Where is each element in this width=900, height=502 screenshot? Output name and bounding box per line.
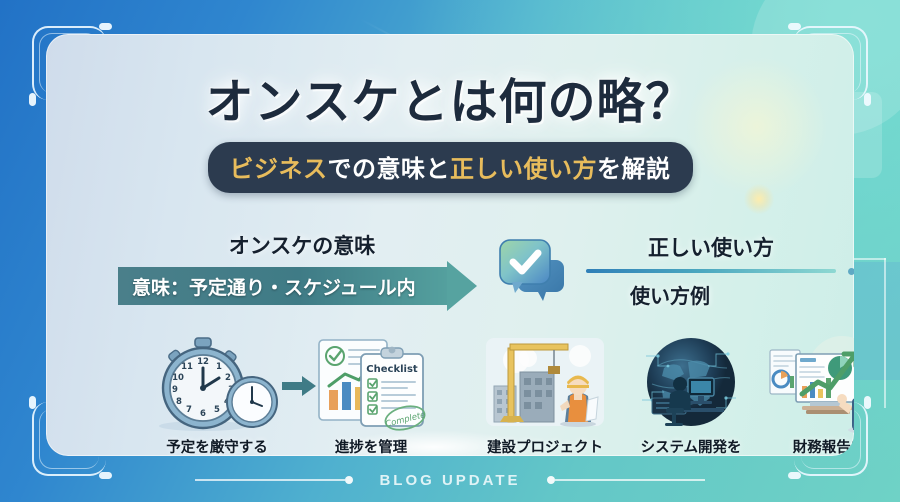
list-item-label: 予定を厳守する: [152, 439, 282, 456]
usage-subheading: 使い方例: [586, 280, 798, 309]
svg-text:Checklist: Checklist: [366, 364, 418, 375]
list-item: 1212 345 678 91011: [152, 334, 282, 456]
svg-text:11: 11: [181, 362, 193, 372]
list-item: システム開発を 予定通り: [626, 334, 756, 456]
mid-section: オンスケの意味 意味：予定通り・スケジュール内: [46, 230, 854, 330]
check-speech-bubble-icon: [498, 238, 568, 304]
meaning-banner: 意味：予定通り・スケジュール内: [118, 267, 448, 305]
icon-row: 1212 345 678 91011: [46, 334, 854, 456]
subtitle-part3: 正しい使い方: [450, 155, 597, 183]
subtitle-part1: ビジネス: [230, 155, 328, 183]
subtitle-part4: を解説: [597, 155, 671, 183]
construction-crane-icon: [474, 334, 616, 434]
footer-dot-right: [547, 476, 555, 484]
footer-dot-left: [345, 476, 353, 484]
footer-label: BLOG UPDATE: [353, 472, 546, 489]
list-item: Checklist: [306, 334, 436, 456]
svg-text:1: 1: [216, 362, 222, 372]
footer-bar: BLOG UPDATE: [0, 458, 900, 502]
list-item: 財務報告を 納期内に: [764, 334, 854, 456]
page-title: オンスケとは何の略？: [46, 62, 854, 132]
list-item-label-line1: 財務報告を: [793, 440, 854, 456]
usage-heading: 正しい使い方: [586, 232, 798, 262]
svg-text:8: 8: [176, 397, 182, 407]
meaning-heading: オンスケの意味: [118, 230, 478, 260]
subtitle-pill: ビジネスでの意味と正しい使い方を解説: [208, 142, 693, 193]
subtitle-part2: での意味と: [328, 155, 451, 183]
list-item-label: 財務報告を 納期内に: [764, 439, 854, 456]
list-item-label-line1: システム開発を: [640, 440, 741, 456]
svg-text:5: 5: [214, 405, 220, 415]
list-item-label: 進捗を管理: [306, 439, 436, 456]
right-arrow-icon: [447, 261, 477, 311]
title-block: オンスケとは何の略？ ビジネスでの意味と正しい使い方を解説: [46, 62, 854, 193]
list-item-label: 建設プロジェクト が順調: [474, 439, 616, 456]
system-development-icon: [626, 334, 756, 434]
svg-text:2: 2: [225, 373, 231, 383]
meaning-section: オンスケの意味 意味：予定通り・スケジュール内: [118, 230, 478, 305]
svg-text:7: 7: [186, 405, 192, 415]
content-panel: オンスケとは何の略？ ビジネスでの意味と正しい使い方を解説 オンスケの意味 意味…: [46, 34, 854, 456]
poster-canvas: オンスケとは何の略？ ビジネスでの意味と正しい使い方を解説 オンスケの意味 意味…: [0, 0, 900, 502]
svg-text:9: 9: [172, 385, 178, 395]
svg-text:6: 6: [200, 409, 206, 419]
svg-text:12: 12: [197, 357, 209, 367]
decorative-line: [884, 258, 886, 408]
footer-line-left: [195, 479, 345, 481]
stopwatch-clock-icon: 1212 345 678 91011: [152, 334, 282, 434]
financial-report-icon: [764, 334, 854, 434]
list-item: 建設プロジェクト が順調: [474, 334, 616, 456]
list-item-label-line1: 建設プロジェクト: [487, 440, 603, 456]
usage-section: 正しい使い方 使い方例: [498, 232, 798, 309]
usage-divider: [586, 266, 798, 275]
chart-checklist-icon: Checklist: [306, 334, 436, 434]
meaning-banner-text: 意味：予定通り・スケジュール内: [118, 273, 416, 300]
footer-line-right: [555, 479, 705, 481]
list-item-label: システム開発を 予定通り: [626, 439, 756, 456]
svg-text:10: 10: [172, 373, 184, 383]
